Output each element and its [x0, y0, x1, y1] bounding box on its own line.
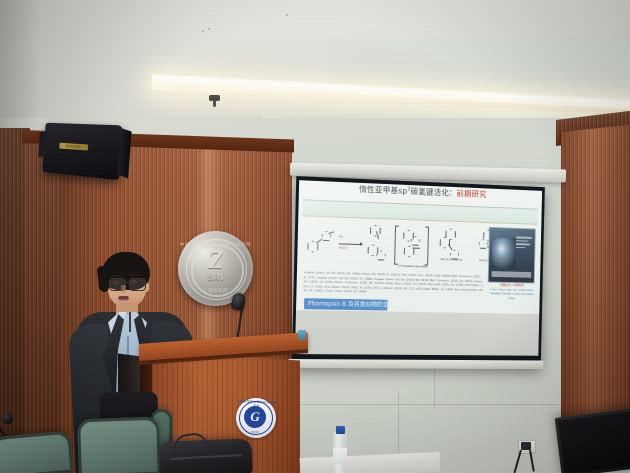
journal-cover-title-band	[491, 271, 531, 278]
ceiling-mark	[202, 30, 204, 32]
loudspeaker-bracket	[38, 132, 47, 158]
wall-loudspeaker: AUDIO	[43, 123, 124, 181]
speaker-nose	[121, 285, 126, 293]
speaker-eyebrow-left	[111, 275, 123, 277]
ceiling-mark	[208, 28, 210, 30]
projection-screen-weight-bar	[288, 359, 544, 369]
water-bottle	[333, 432, 347, 473]
monitor	[555, 408, 630, 473]
reaction-condition: Pd	[339, 234, 343, 238]
black-bag	[159, 438, 252, 473]
wall-outlet-plug	[521, 442, 531, 450]
water-bottle-cap	[336, 426, 345, 434]
podium-logo: 中国科学院上海有机化学研究所 G SIOC	[235, 397, 276, 438]
ceiling-camera-icon	[209, 95, 220, 108]
speaker-jacket-zip	[129, 312, 131, 332]
water-bottle-label	[333, 448, 347, 464]
journal-cover-text-lines	[516, 236, 532, 250]
projection-screen-blank-area	[295, 310, 539, 356]
podium-cup	[298, 330, 307, 340]
intermediate-label: C-H metalated intermediate	[398, 265, 428, 269]
yield-label: 44% (1:1.7), 92% ee	[432, 258, 471, 262]
reaction-arrow	[339, 243, 362, 245]
monitor-screen	[558, 412, 630, 473]
glasses-lens-right	[129, 278, 146, 291]
journal-cover-image	[488, 227, 536, 284]
slide-reaction-scheme-top: Pd Ag₂CO₃	[305, 220, 485, 272]
glasses-bridge	[124, 282, 129, 283]
slide-title-main: 惰性亚甲基sp	[359, 185, 408, 196]
slide-title-emphasis: 前期研究	[456, 189, 486, 199]
slide-title-middle: 碳氢键活化：	[410, 187, 456, 198]
audience-chair	[77, 417, 161, 473]
bracket-right	[424, 227, 429, 266]
wall-seam	[434, 370, 435, 410]
bracket-left	[394, 226, 399, 265]
audience-chair	[0, 431, 74, 473]
ceiling-mark	[286, 14, 288, 16]
speaker-shirt-button	[126, 348, 129, 351]
journal-cover-artwork	[492, 238, 516, 269]
slide-section-header: Phomopsin B 及其类似物的全合成	[304, 298, 388, 310]
podium-logo-monogram: G	[244, 406, 267, 429]
speaker-eyebrow-right	[129, 274, 141, 276]
bag-seam	[170, 454, 242, 460]
loudspeaker-brand-label: AUDIO	[59, 143, 88, 151]
reaction-condition-secondary: Ag₂CO₃	[339, 246, 348, 249]
slide-citations: Angew. Chem. Int. Ed. 2014, 53, 3466; Ch…	[303, 270, 484, 296]
microphone-secondary-head	[2, 413, 13, 424]
slide-section-header-label: Phomopsin B 及其类似物的全合成	[304, 298, 388, 310]
wood-panel-right-shading	[561, 125, 630, 432]
lecture-hall-photo: 中国科学院上海有机化学研究所 Z SRI 上海有机所 AUDIO 惰性亚甲基sp…	[0, 0, 630, 473]
journal-cover-caption: 封面论文 / 中国化学 J. Am. Chem. Soc. Sci. China…	[489, 283, 534, 301]
journal-caption-line-3: Faraday, Novartis & Sino Innovation Priz…	[489, 291, 534, 300]
projection-screen: 惰性亚甲基sp3碳氢键活化：前期研究 Pd Ag₂CO₃	[292, 176, 545, 367]
speaker-mouth	[118, 296, 129, 301]
